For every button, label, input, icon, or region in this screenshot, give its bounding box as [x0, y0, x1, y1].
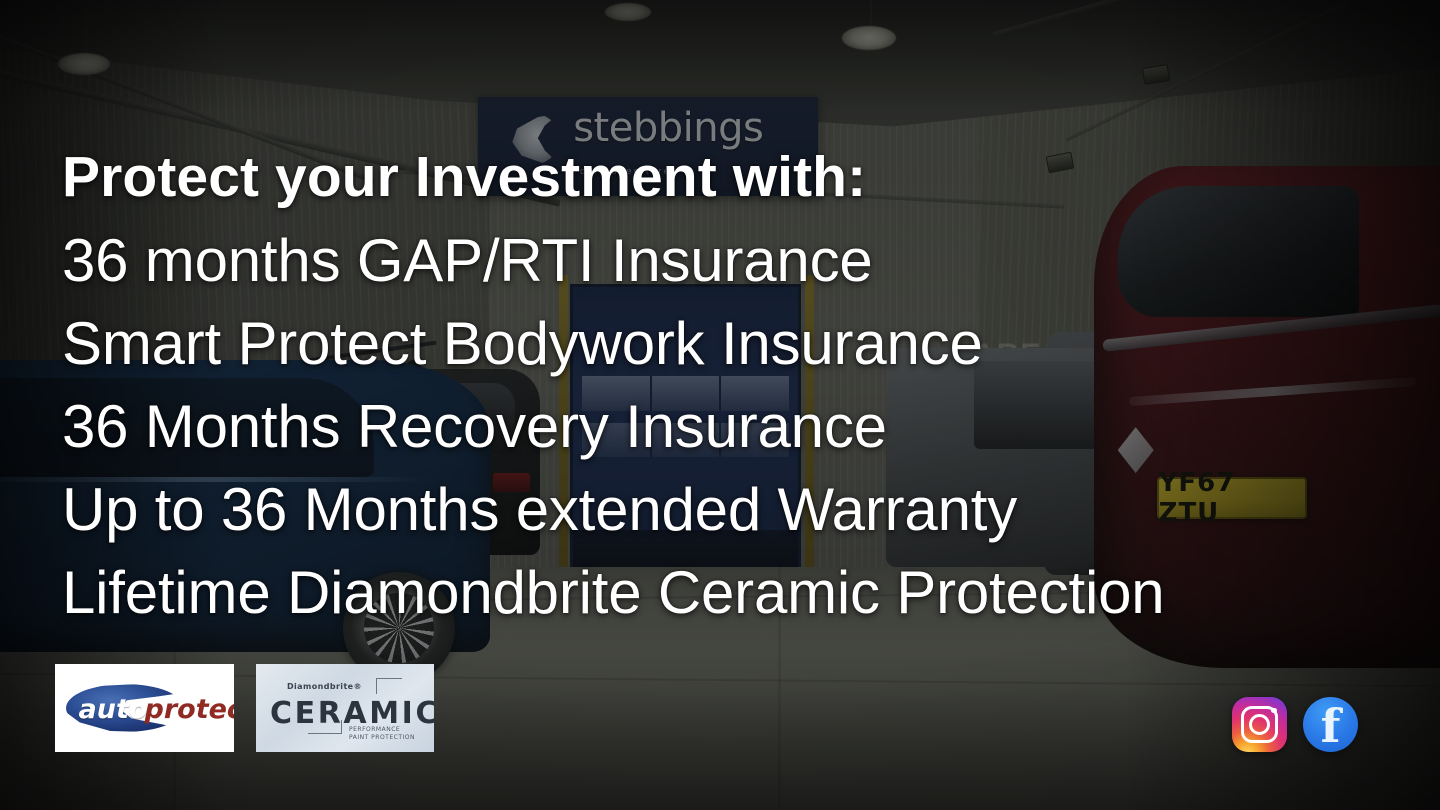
facebook-glyph: f: [1303, 703, 1358, 749]
social-icons: f: [1232, 697, 1358, 752]
autoprotect-word-protect: protect: [145, 694, 235, 725]
diamondbrite-inner: Diamondbrite® CERAMIC PERFORMANCEPAINT P…: [256, 664, 434, 752]
instagram-dot: [1271, 708, 1277, 714]
autoprotect-logo: auto protect: [55, 664, 234, 752]
facebook-icon[interactable]: f: [1303, 697, 1358, 752]
diamondbrite-tagline: PERFORMANCEPAINT PROTECTION: [349, 726, 415, 742]
partner-logos: auto protect Diamondbrite® CERAMIC PERFO…: [55, 664, 434, 752]
benefit-line-4: Up to 36 Months extended Warranty: [62, 468, 1402, 551]
autoprotect-word-auto: auto: [79, 694, 148, 725]
promo-slide: stebbings car superstore ARETO: [0, 0, 1440, 810]
instagram-icon[interactable]: [1232, 697, 1287, 752]
diamondbrite-bracket-top: [376, 678, 402, 694]
benefit-line-2: Smart Protect Bodywork Insurance: [62, 302, 1402, 385]
promo-copy-block: Protect your Investment with: 36 months …: [62, 136, 1402, 634]
diamondbrite-ceramic-logo: Diamondbrite® CERAMIC PERFORMANCEPAINT P…: [256, 664, 434, 752]
autoprotect-mark: auto protect: [66, 680, 224, 736]
benefit-line-3: 36 Months Recovery Insurance: [62, 385, 1402, 468]
benefit-line-1: 36 months GAP/RTI Insurance: [62, 219, 1402, 302]
benefit-line-5: Lifetime Diamondbrite Ceramic Protection: [62, 551, 1402, 634]
instagram-lens: [1249, 714, 1270, 735]
headline: Protect your Investment with:: [62, 136, 1402, 219]
diamondbrite-brand: Diamondbrite®: [287, 682, 362, 691]
